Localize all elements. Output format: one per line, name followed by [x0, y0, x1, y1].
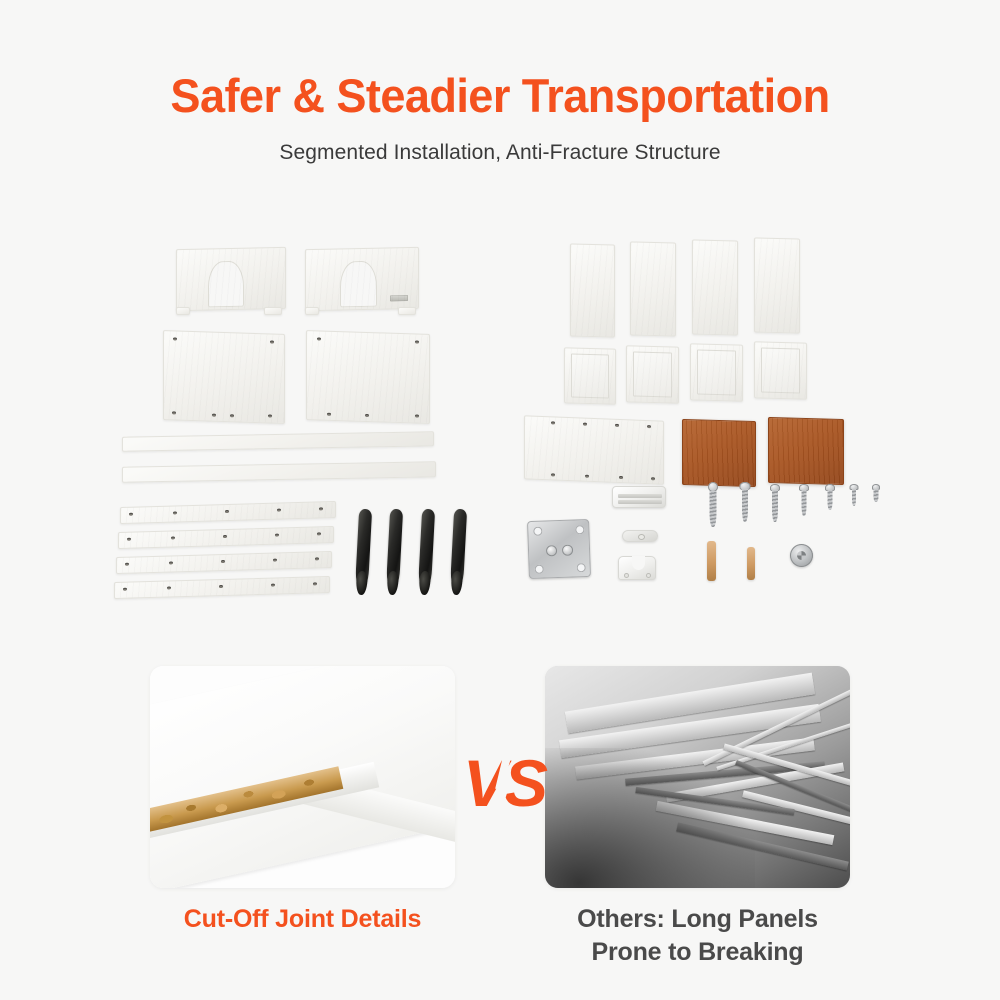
right-caption-line-1: Others: Long Panels — [545, 903, 850, 936]
drill-hole — [219, 585, 223, 588]
drilled-slat — [120, 501, 336, 524]
drill-hole — [268, 414, 272, 417]
drill-hole — [415, 414, 419, 417]
long-rail — [122, 461, 436, 488]
brand-label — [390, 295, 408, 301]
screw — [738, 482, 752, 524]
door-inset — [761, 347, 800, 393]
screw-shaft — [802, 490, 807, 516]
drill-hole — [585, 475, 589, 478]
catch-slot — [618, 500, 662, 504]
wood-backboard — [768, 417, 844, 485]
page-subtitle: Segmented Installation, Anti-Fracture St… — [0, 141, 1000, 165]
arched-frame-panel — [305, 247, 419, 311]
wood-backboard — [682, 419, 756, 487]
drill-hole — [615, 424, 619, 427]
wooden-dowel — [707, 541, 716, 581]
drilled-slat — [114, 576, 330, 599]
plastic-foot-bracket — [618, 556, 656, 580]
drill-hole — [125, 563, 129, 566]
screw-shaft — [852, 489, 856, 506]
comparison-section: VS — [0, 666, 1000, 896]
black-leg — [355, 509, 372, 592]
drill-hole — [365, 414, 369, 417]
bracket-notch — [632, 556, 645, 570]
drill-hole — [221, 560, 225, 563]
bracket-hole — [646, 573, 651, 578]
drill-hole — [315, 557, 319, 560]
flat-side-panel — [163, 330, 285, 424]
black-leg — [450, 509, 467, 592]
drill-hole — [651, 477, 655, 480]
page-title: Safer & Steadier Transportation — [20, 68, 980, 123]
metal-mounting-plate — [527, 519, 591, 579]
drill-hole — [212, 414, 216, 417]
drill-hole — [173, 511, 177, 514]
plate-cam-hole — [546, 545, 557, 556]
tall-shelf-panel — [570, 243, 615, 337]
flat-side-panel — [306, 330, 430, 424]
framed-door-panel — [690, 343, 743, 401]
parts-exploded-view — [0, 228, 1000, 638]
drill-hole — [317, 337, 321, 340]
right-parts-group — [500, 228, 1000, 638]
broken-panel-photo — [545, 666, 850, 888]
drill-hole — [551, 421, 555, 424]
framed-door-panel — [626, 345, 679, 403]
drill-hole — [319, 507, 323, 510]
screw — [798, 484, 810, 518]
drill-hole — [129, 513, 133, 516]
screw-shaft — [828, 490, 833, 510]
plate-hole — [535, 565, 544, 574]
arched-frame-foot — [176, 307, 190, 315]
drill-hole — [173, 337, 177, 340]
arched-frame-panel — [176, 247, 286, 311]
drill-hole — [127, 538, 131, 541]
drill-hole — [551, 473, 555, 476]
drill-hole — [583, 423, 587, 426]
arched-frame-foot — [264, 307, 282, 315]
plate-cam-hole — [562, 545, 573, 556]
drill-hole — [273, 559, 277, 562]
drill-hole — [171, 536, 175, 539]
plate-hole — [533, 527, 542, 536]
drill-hole — [172, 411, 176, 414]
base-panel-face — [524, 415, 664, 484]
arched-frame-foot — [305, 307, 319, 315]
bracket-hole — [624, 573, 629, 578]
drill-hole — [169, 561, 173, 564]
plate-hole — [577, 563, 586, 572]
broken-panel-photo-card — [545, 666, 850, 888]
door-inset — [633, 351, 672, 397]
arch-cutout — [340, 261, 377, 308]
plastic-magnet-catch — [612, 486, 666, 508]
drilled-slat — [118, 526, 334, 549]
drill-hole — [225, 510, 229, 513]
left-parts-group — [0, 228, 500, 638]
screw — [706, 482, 720, 528]
drill-hole — [327, 413, 331, 416]
white-base-panel — [524, 418, 664, 490]
panel-photo — [150, 666, 455, 888]
drill-hole — [123, 588, 127, 591]
drill-hole — [230, 414, 234, 417]
product-feature-graphic: Safer & Steadier Transportation Segmente… — [0, 0, 1000, 1000]
long-rail — [122, 431, 434, 458]
drill-hole — [167, 586, 171, 589]
drill-hole — [223, 535, 227, 538]
plastic-connector — [622, 530, 658, 542]
catch-slot — [618, 494, 662, 498]
drill-hole — [275, 534, 279, 537]
black-leg — [418, 509, 435, 592]
tall-shelf-panel — [692, 239, 738, 335]
drill-hole — [271, 584, 275, 587]
door-inset — [571, 353, 609, 398]
framed-door-panel — [754, 341, 807, 399]
tall-shelf-panel — [630, 241, 676, 336]
cam-lock — [790, 544, 813, 567]
screw-shaft — [710, 491, 717, 527]
screw-shaft — [742, 489, 748, 522]
drill-hole — [619, 476, 623, 479]
drill-hole — [270, 340, 274, 343]
door-inset — [697, 349, 736, 395]
screw — [824, 484, 836, 512]
left-caption: Cut-Off Joint Details — [150, 903, 455, 936]
arch-cutout — [208, 261, 244, 308]
screw — [870, 484, 881, 504]
right-caption-line-2: Prone to Breaking — [545, 936, 850, 969]
black-leg — [386, 509, 403, 592]
plate-hole — [575, 525, 584, 534]
right-caption: Others: Long Panels Prone to Breaking — [545, 903, 850, 969]
screw — [848, 484, 859, 508]
screw-shaft — [772, 490, 778, 522]
header-block: Safer & Steadier Transportation Segmente… — [0, 0, 1000, 165]
connector-hole — [638, 534, 645, 540]
screw-shaft — [873, 489, 878, 502]
photo-shadow — [545, 748, 755, 888]
drilled-slat — [116, 551, 332, 574]
versus-badge: VS — [458, 735, 550, 831]
framed-door-panel — [564, 347, 616, 404]
drill-hole — [317, 532, 321, 535]
drill-hole — [313, 582, 317, 585]
drill-hole — [277, 509, 281, 512]
drill-hole — [647, 425, 651, 428]
wooden-dowel — [747, 547, 755, 580]
arched-frame-foot — [398, 307, 416, 315]
cut-off-joint-photo-card — [150, 666, 455, 888]
screw — [768, 484, 782, 524]
drill-hole — [415, 340, 419, 343]
tall-shelf-panel — [754, 237, 800, 333]
